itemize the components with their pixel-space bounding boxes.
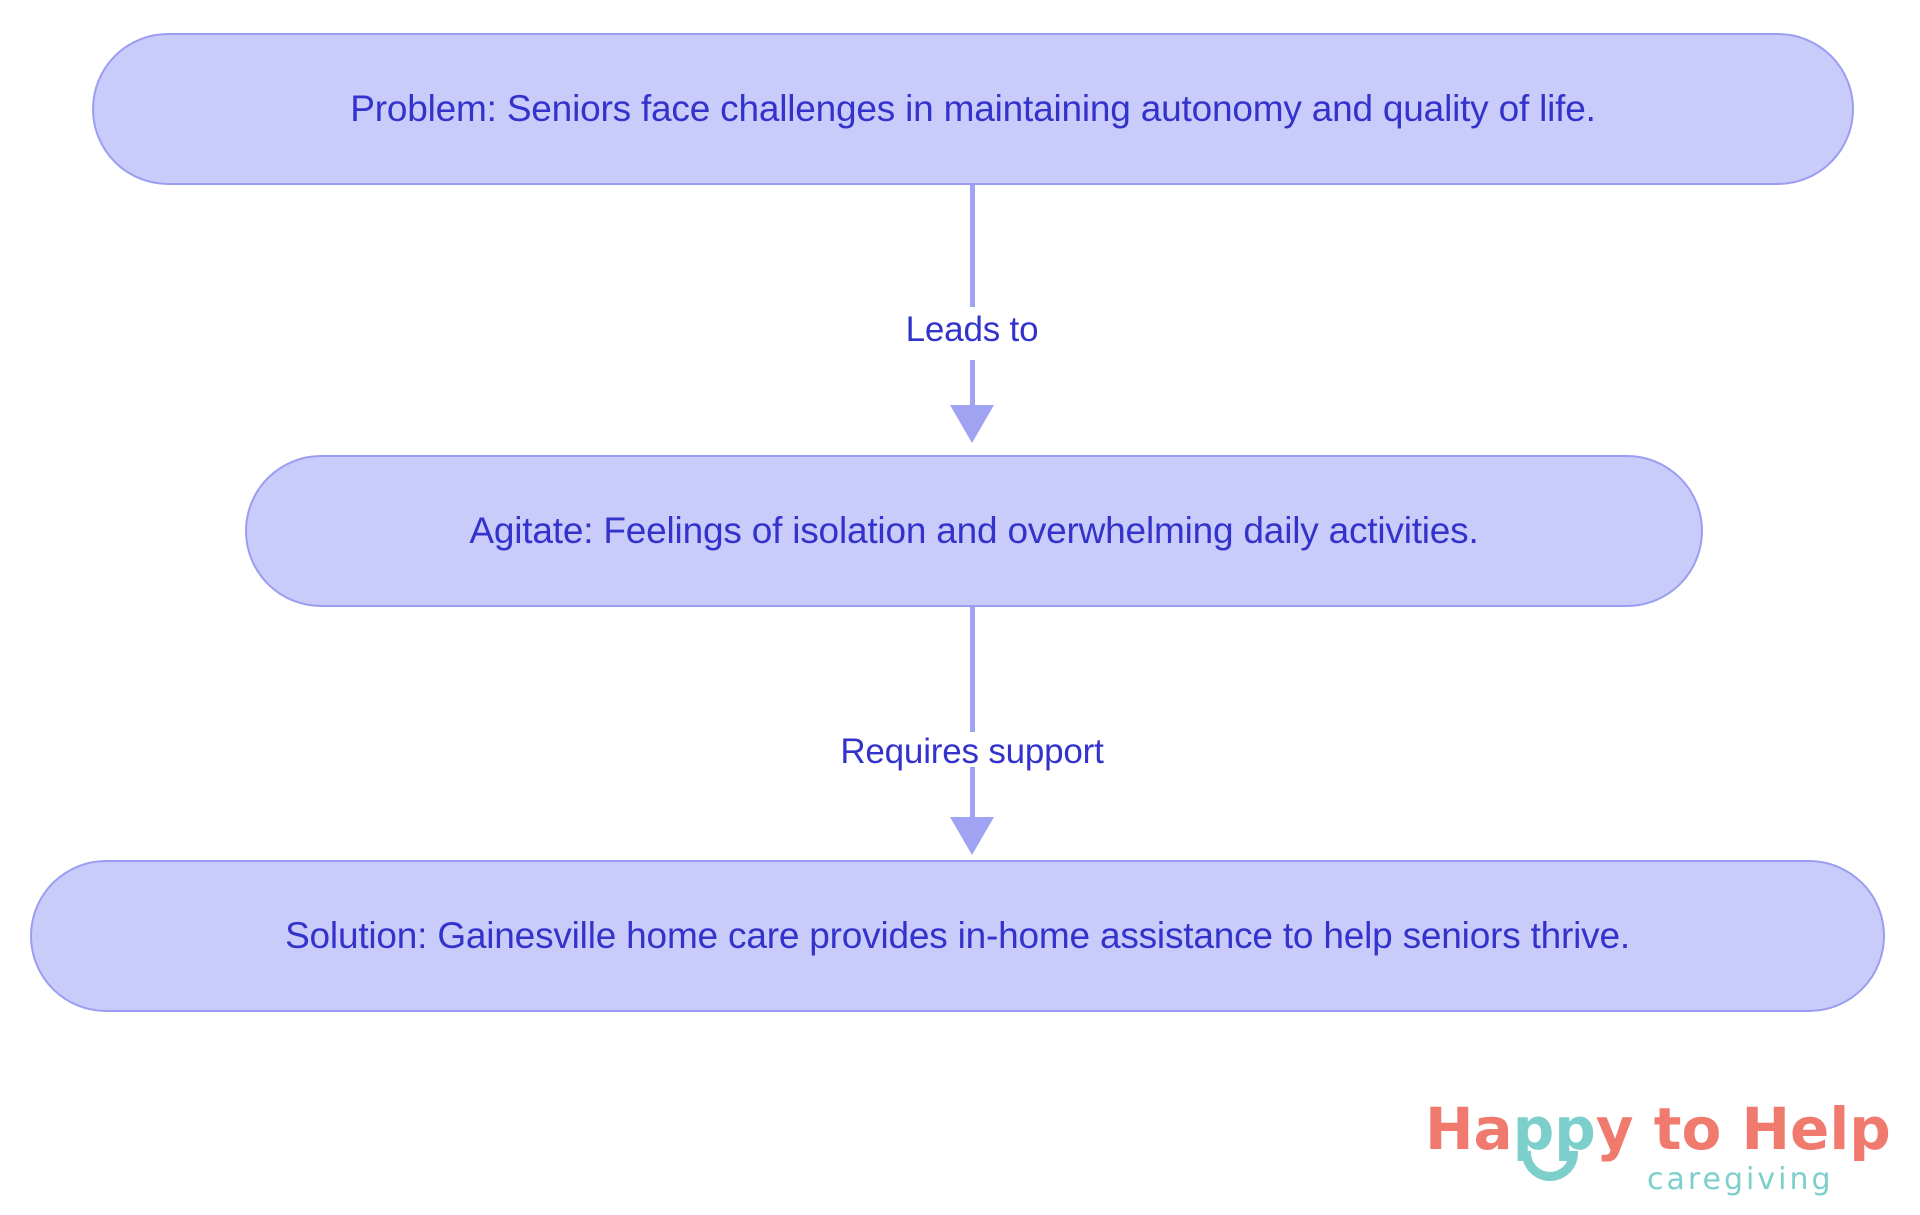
edge-leads-to-line-upper xyxy=(970,185,975,307)
flow-node-agitate[interactable]: Agitate: Feelings of isolation and overw… xyxy=(245,455,1703,607)
flow-node-solution[interactable]: Solution: Gainesville home care provides… xyxy=(30,860,1885,1012)
flow-node-agitate-label: Agitate: Feelings of isolation and overw… xyxy=(469,509,1478,553)
smile-arc-icon xyxy=(1522,1151,1578,1181)
edge-requires-support-line-lower xyxy=(970,767,975,817)
brand-logo-wordmark: Happy to Help xyxy=(1425,1100,1891,1158)
edge-requires-support-arrowhead-icon xyxy=(950,817,994,855)
brand-logo-tagline: caregiving xyxy=(1647,1162,1834,1197)
edge-leads-to-label: Leads to xyxy=(896,310,1049,350)
edge-leads-to-arrowhead-icon xyxy=(950,405,994,443)
brand-logo-text-to-help: to Help xyxy=(1634,1095,1891,1163)
flow-node-problem[interactable]: Problem: Seniors face challenges in main… xyxy=(92,33,1854,185)
flow-node-problem-label: Problem: Seniors face challenges in main… xyxy=(350,87,1595,131)
brand-logo: Happy to Help caregiving xyxy=(1425,1100,1885,1200)
edge-requires-support-label: Requires support xyxy=(830,732,1113,772)
edge-requires-support-line-upper xyxy=(970,607,975,732)
brand-logo-text-y: y xyxy=(1596,1095,1634,1163)
flow-node-solution-label: Solution: Gainesville home care provides… xyxy=(285,914,1630,958)
edge-leads-to-line-lower xyxy=(970,360,975,405)
brand-logo-text-ha: Ha xyxy=(1425,1095,1513,1163)
flowchart-canvas: Problem: Seniors face challenges in main… xyxy=(0,0,1920,1215)
